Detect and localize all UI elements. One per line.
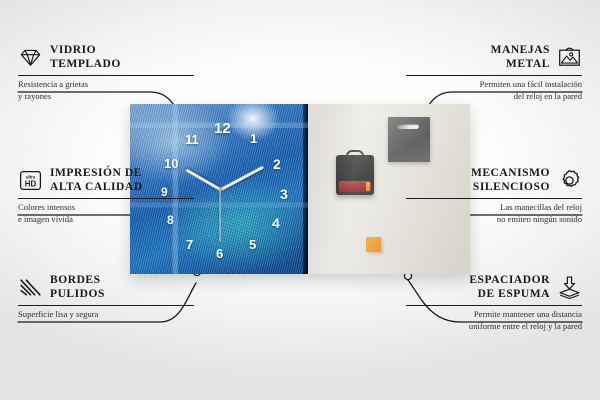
clock-number-12: 12 <box>214 121 231 136</box>
feature-divider <box>18 305 194 306</box>
feature-title-line2: PULIDOS <box>50 288 105 302</box>
feature-divider <box>18 75 194 76</box>
feature-title-line2: SILENCIOSO <box>471 181 550 195</box>
feature-divider <box>406 198 582 199</box>
diamond-icon <box>18 45 43 70</box>
feature-subtitle-line2: y rayones <box>18 91 194 102</box>
feature-espaciador-espuma[interactable]: ESPACIADOR DE ESPUMA Permite mantener un… <box>406 274 582 332</box>
clock-minute-hand <box>220 166 264 191</box>
hanger-slot <box>397 124 419 129</box>
feature-header: BORDES PULIDOS <box>18 274 194 301</box>
feature-title-line1: IMPRESIÓN DE <box>50 167 143 181</box>
feature-title-line2: TEMPLADO <box>50 58 121 72</box>
feature-divider <box>18 198 194 199</box>
feature-vidrio-templado[interactable]: VIDRIO TEMPLADO Resistencia a grietas y … <box>18 44 194 102</box>
feature-header: VIDRIO TEMPLADO <box>18 44 194 71</box>
feature-divider <box>406 305 582 306</box>
feature-header: ultra HD IMPRESIÓN DE ALTA CALIDAD <box>18 167 194 194</box>
feature-bordes-pulidos[interactable]: BORDES PULIDOS Superficie lisa y segura <box>18 274 194 321</box>
clock-number-4: 4 <box>272 216 280 230</box>
diagonal-lines-icon <box>18 275 43 300</box>
feature-subtitle: Resistencia a grietas y rayones <box>18 79 194 102</box>
feature-mecanismo-silencioso[interactable]: MECANISMO SILENCIOSO Las manecillas del … <box>406 167 582 225</box>
feature-subtitle: Superficie lisa y segura <box>18 309 194 320</box>
feature-manejas-metal[interactable]: MANEJAS METAL Permiten una fácil instala… <box>406 44 582 102</box>
clock-number-1: 1 <box>250 132 257 145</box>
clock-center-cap <box>219 187 223 191</box>
feature-subtitle-line2: no emiten ningún sonido <box>406 214 582 225</box>
feature-title-line1: MANEJAS <box>491 44 550 58</box>
clock-mechanism-box <box>336 155 374 195</box>
feature-divider <box>406 75 582 76</box>
battery <box>339 181 371 192</box>
feature-impresion-alta-calidad[interactable]: ultra HD IMPRESIÓN DE ALTA CALIDAD Color… <box>18 167 194 225</box>
feature-title-line2: ALTA CALIDAD <box>50 181 143 195</box>
foam-spacer <box>366 237 381 252</box>
feature-title: MANEJAS METAL <box>491 44 550 71</box>
feature-title: MECANISMO SILENCIOSO <box>471 167 550 194</box>
feature-title-line1: ESPACIADOR <box>469 274 550 288</box>
clock-number-2: 2 <box>273 157 281 171</box>
feature-subtitle-line2: del reloj en la pared <box>406 91 582 102</box>
ultra-hd-badge-icon: ultra HD <box>18 168 43 193</box>
feature-subtitle-line2: uniforme entre el reloj y la pared <box>406 321 582 332</box>
feature-subtitle: Permite mantener una distancia uniforme … <box>406 309 582 332</box>
feature-subtitle: Colores intensos e imagen vívida <box>18 202 194 225</box>
mechanism-hanging-loop <box>346 150 364 158</box>
feature-title-line1: BORDES <box>50 274 105 288</box>
feature-title: IMPRESIÓN DE ALTA CALIDAD <box>50 167 143 194</box>
infographic-stage: 12 1 2 3 4 5 6 7 8 9 10 11 <box>0 0 600 400</box>
feature-title-line1: VIDRIO <box>50 44 121 58</box>
feature-subtitle-line1: Permite mantener una distancia <box>406 309 582 320</box>
picture-frame-hanger-icon <box>557 45 582 70</box>
feature-title-line2: DE ESPUMA <box>469 288 550 302</box>
feature-subtitle-line1: Colores intensos <box>18 202 194 213</box>
feature-header: MANEJAS METAL <box>406 44 582 71</box>
feature-subtitle-line1: Las manecillas del reloj <box>406 202 582 213</box>
svg-text:HD: HD <box>25 179 37 188</box>
feature-subtitle-line1: Superficie lisa y segura <box>18 309 194 320</box>
feature-header: MECANISMO SILENCIOSO <box>406 167 582 194</box>
feature-subtitle: Permiten una fácil instalación del reloj… <box>406 79 582 102</box>
feature-title-line1: MECANISMO <box>471 167 550 181</box>
clock-number-3: 3 <box>280 187 288 201</box>
feature-subtitle-line1: Permiten una fácil instalación <box>406 79 582 90</box>
clock-second-hand <box>220 190 221 242</box>
clock-number-5: 5 <box>249 238 256 251</box>
arrow-down-onto-layers-icon <box>557 275 582 300</box>
feature-subtitle-line1: Resistencia a grietas <box>18 79 194 90</box>
clock-number-6: 6 <box>216 247 223 260</box>
feature-title: BORDES PULIDOS <box>50 274 105 301</box>
feature-subtitle-line2: e imagen vívida <box>18 214 194 225</box>
feature-header: ESPACIADOR DE ESPUMA <box>406 274 582 301</box>
clock-number-7: 7 <box>186 238 193 251</box>
feature-subtitle: Las manecillas del reloj no emiten ningú… <box>406 202 582 225</box>
feature-title-line2: METAL <box>491 58 550 72</box>
clock-number-11: 11 <box>185 133 199 146</box>
gear-icon <box>557 168 582 193</box>
feature-title: ESPACIADOR DE ESPUMA <box>469 274 550 301</box>
glass-glare <box>226 104 279 141</box>
feature-title: VIDRIO TEMPLADO <box>50 44 121 71</box>
metal-hanger-plate <box>388 117 430 162</box>
